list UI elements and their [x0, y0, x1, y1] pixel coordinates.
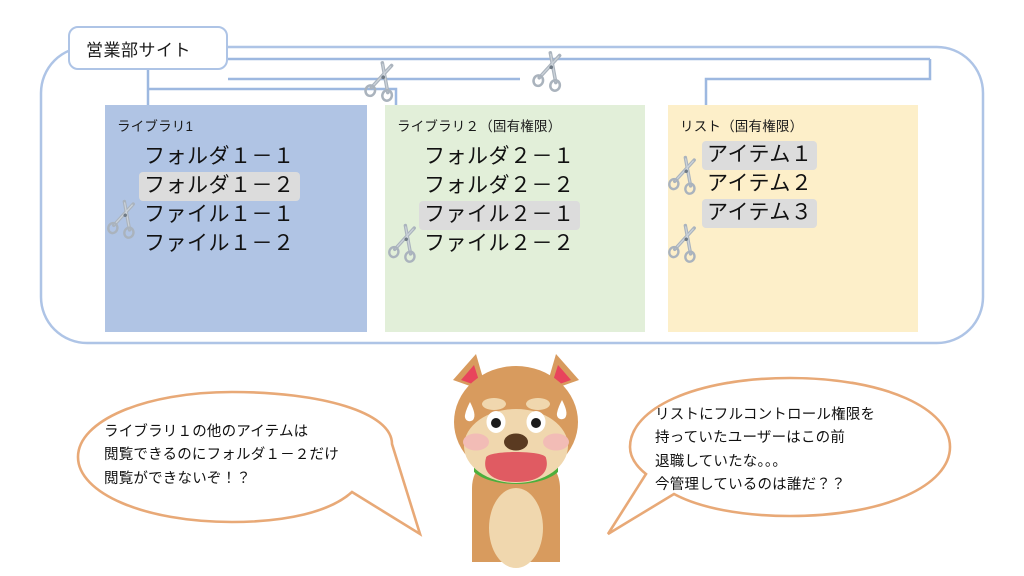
scissor-connector-list-icon	[532, 50, 568, 91]
diagram-canvas: 営業部サイト ライブラリ1 フォルダ１－１ フォルダ１－２ ファイル１－１ ファ…	[0, 0, 1024, 576]
scissor-file-2-1-icon	[388, 223, 422, 263]
scissor-folder-1-2-icon	[107, 199, 141, 239]
scissor-item-1-icon	[668, 155, 702, 195]
scissors-overlay	[0, 0, 1024, 576]
scissor-connector-lib2-icon	[364, 60, 400, 101]
scissor-item-3-icon	[668, 223, 702, 263]
